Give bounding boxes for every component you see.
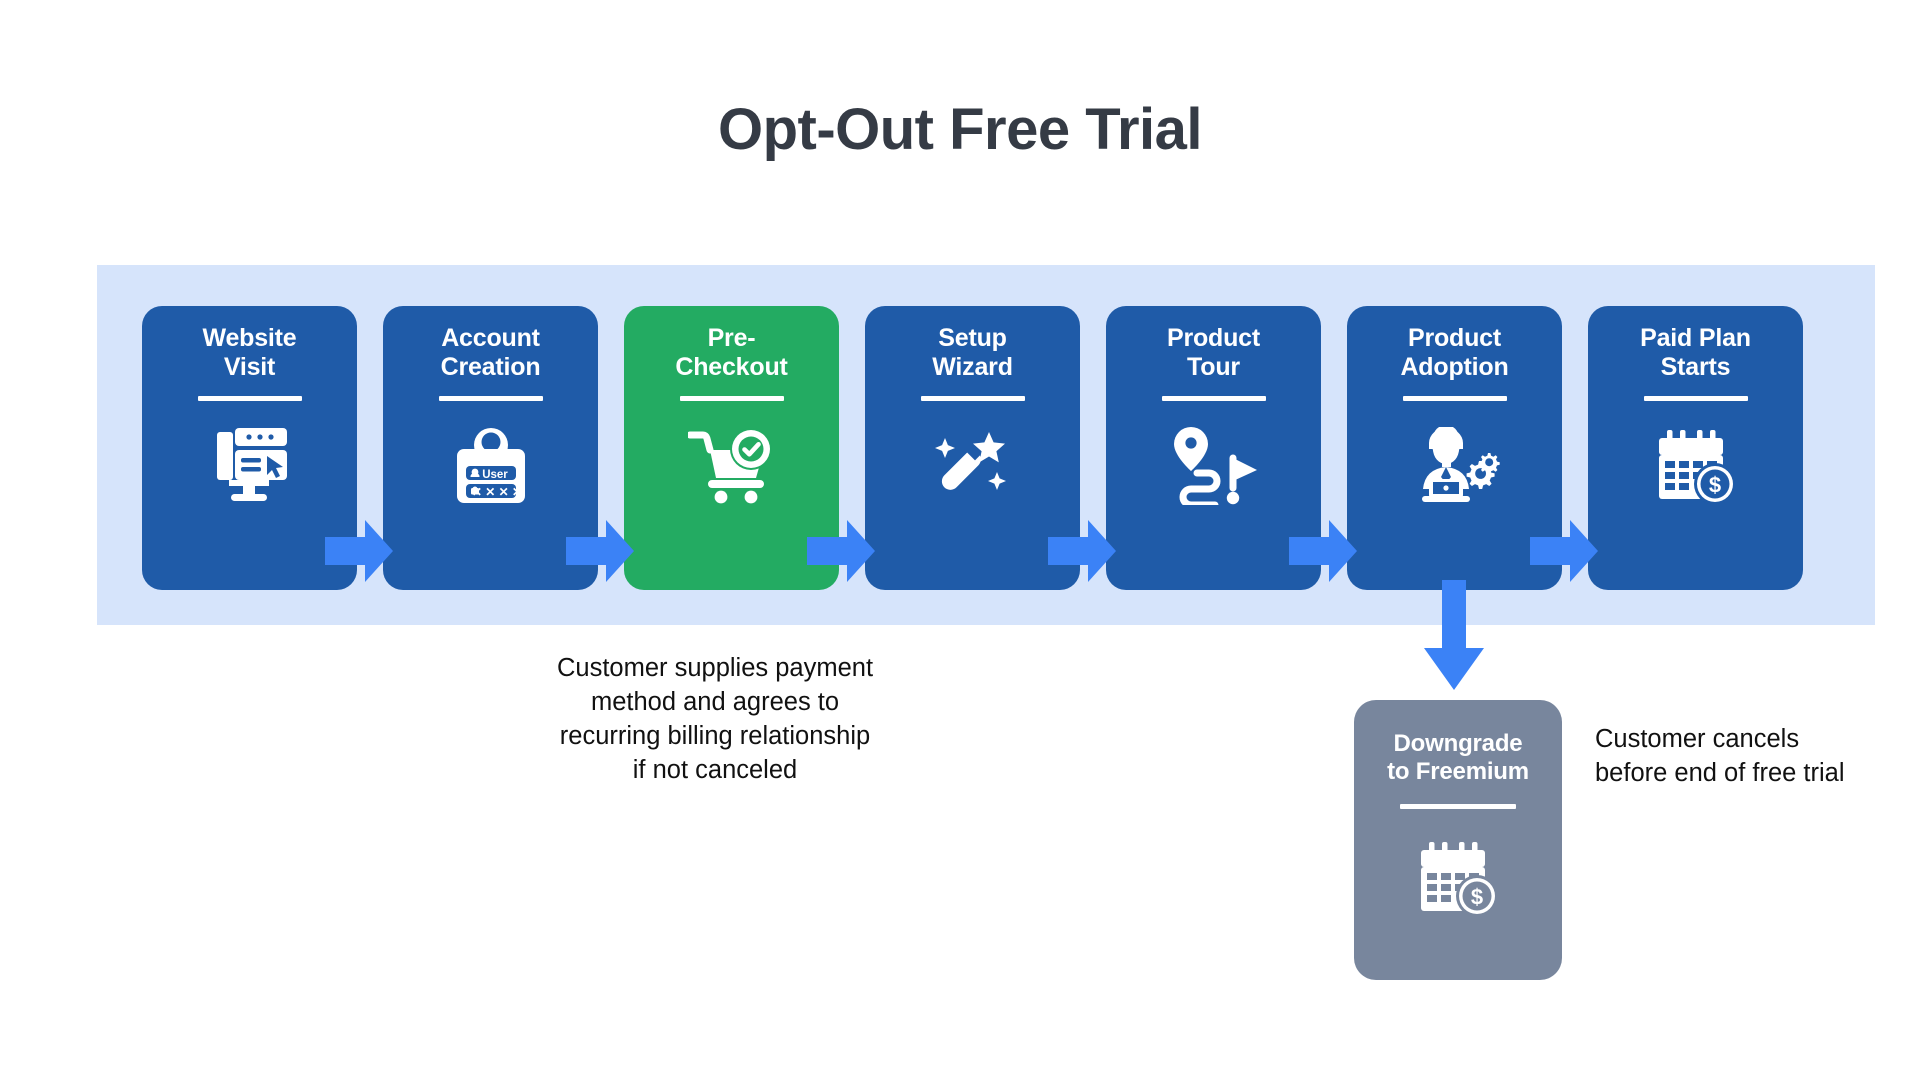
svg-text:$: $ [1471, 884, 1483, 909]
person-laptop-gears-icon [1347, 419, 1562, 511]
flow-step-label: WebsiteVisit [142, 324, 357, 382]
svg-text:User: User [482, 469, 508, 481]
svg-text:$: $ [1708, 473, 1720, 498]
connector-arrow-6 [1530, 520, 1598, 582]
flow-step-label: Paid PlanStarts [1588, 324, 1803, 382]
flow-step-label: Downgradeto Freemium [1354, 730, 1562, 786]
connector-arrow-2 [566, 520, 634, 582]
magic-wand-stars-icon [865, 419, 1080, 511]
flow-step-downgrade-to-freemium[interactable]: Downgradeto Freemium $ [1354, 700, 1562, 980]
calendar-dollar-icon: $ [1588, 419, 1803, 511]
shopping-cart-check-icon [624, 419, 839, 511]
label-divider [1644, 396, 1748, 401]
label-divider [1403, 396, 1507, 401]
connector-arrow-4 [1048, 520, 1116, 582]
flow-step-label: Pre-Checkout [624, 324, 839, 382]
flow-step-label: ProductAdoption [1347, 324, 1562, 382]
connector-arrow-3 [807, 520, 875, 582]
flow-step-paid-plan-starts[interactable]: Paid PlanStarts $ [1588, 306, 1803, 590]
label-divider [198, 396, 302, 401]
calendar-dollar-icon: $ [1354, 831, 1562, 923]
svg-text:✕ ✕ ✕ ✕: ✕ ✕ ✕ ✕ [471, 485, 521, 499]
page-title: Opt-Out Free Trial [0, 96, 1920, 163]
label-divider [921, 396, 1025, 401]
login-card-user-icon: User ✕ ✕ ✕ ✕ [383, 419, 598, 511]
map-pin-route-flag-icon [1106, 419, 1321, 511]
connector-arrow-1 [325, 520, 393, 582]
connector-arrow-5 [1289, 520, 1357, 582]
label-divider [1400, 804, 1516, 809]
flow-step-label: ProductTour [1106, 324, 1321, 382]
caption-pre-checkout: Customer supplies payment method and agr… [555, 652, 875, 788]
label-divider [1162, 396, 1266, 401]
label-divider [680, 396, 784, 401]
browser-window-cursor-icon [142, 419, 357, 511]
caption-downgrade: Customer cancels before end of free tria… [1595, 723, 1845, 791]
flow-step-label: SetupWizard [865, 324, 1080, 382]
arrow-down-icon [1424, 580, 1484, 690]
flow-step-label: AccountCreation [383, 324, 598, 382]
label-divider [439, 396, 543, 401]
